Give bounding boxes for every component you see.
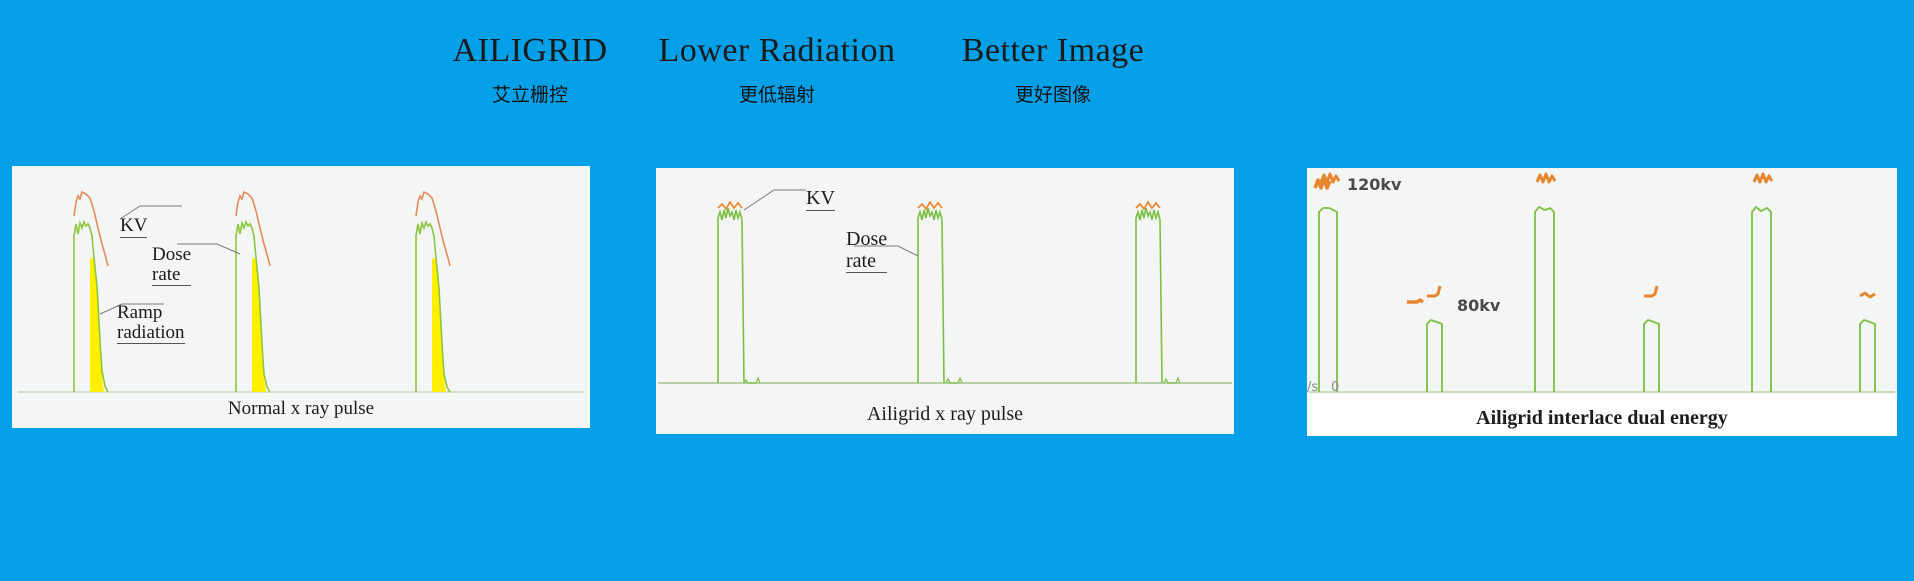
kv-annotation-text-2: KV [806, 187, 835, 211]
header-title-cn-0: 艾立栅控 [430, 80, 630, 110]
panel-ailigrid-interlace-dual-energy: 120kv 80kv /s 0 Ailigrid interlace dual … [1307, 168, 1897, 436]
header-title-en-2: Better Image [928, 30, 1178, 72]
low-energy-pulse-2 [1644, 320, 1659, 392]
legend-label-80kv: 80kv [1457, 296, 1500, 315]
header-group-ailigrid: AILIGRID 艾立栅控 [430, 30, 630, 110]
chart-ailigrid-x-ray-pulse [656, 168, 1234, 434]
kv-pulse-2-3 [1136, 202, 1160, 209]
high-energy-pulse-1 [1319, 208, 1337, 392]
legend-swatch-80kv [1407, 300, 1423, 302]
kv-mark-low-3 [1860, 293, 1875, 297]
kv-annotation-2: KV [806, 168, 835, 211]
dose-rate-pulse-2-3 [1136, 208, 1162, 383]
kv-annotation-text-1: KV [120, 215, 147, 238]
low-energy-pulse-3 [1860, 320, 1875, 392]
panel-caption-1: Normal x ray pulse [12, 398, 590, 420]
header-title-en-1: Lower Radiation [637, 30, 917, 72]
y-axis-zero-label: 0 [1331, 380, 1339, 395]
chart-svg-1 [12, 166, 590, 428]
ramp-radiation-annotation-text-1: Ramp radiation [117, 303, 185, 344]
dose-rate-annotation-1: Dose rate [152, 225, 191, 286]
dose-rate-annotation-text-2: Dose rate [846, 228, 887, 273]
header-title-cn-2: 更好图像 [928, 80, 1178, 110]
kv-mark-low-1 [1427, 286, 1440, 296]
kv-mark-high-2 [1537, 174, 1555, 182]
ramp-radiation-annotation-1: Ramp radiation [117, 283, 185, 344]
kv-pulse-2-2 [918, 202, 942, 209]
high-energy-pulse-2 [1535, 207, 1554, 392]
kv-mark-low-2 [1644, 286, 1657, 296]
header-title-cn-1: 更低辐射 [637, 80, 917, 110]
kv-mark-high-3 [1754, 174, 1772, 182]
kv-annotation-1: KV [120, 193, 147, 238]
dose-rate-annotation-text-1: Dose rate [152, 245, 191, 286]
kv-leader-line-2 [744, 190, 806, 210]
header-title-en-0: AILIGRID [430, 30, 630, 72]
y-axis-unit-label: /s [1307, 380, 1318, 395]
legend-label-120kv: 120kv [1347, 175, 1401, 194]
panel-normal-x-ray-pulse: KV Dose rate Ramp radiation Normal x ray… [12, 166, 590, 428]
panel-ailigrid-x-ray-pulse: KV Dose rate Ailigrid x ray pulse [656, 168, 1234, 434]
chart-svg-2 [656, 168, 1234, 434]
kv-pulse-2-1 [718, 202, 742, 209]
header-group-better-image: Better Image 更好图像 [928, 30, 1178, 110]
low-energy-pulse-1 [1427, 320, 1442, 392]
high-energy-pulse-3 [1752, 207, 1771, 392]
header-group-lower-radiation: Lower Radiation 更低辐射 [637, 30, 917, 110]
chart-normal-x-ray-pulse [12, 166, 590, 428]
panel-caption-2: Ailigrid x ray pulse [656, 403, 1234, 426]
slide-background: AILIGRID 艾立栅控 Lower Radiation 更低辐射 Bette… [0, 0, 1914, 581]
dose-rate-annotation-2: Dose rate [846, 206, 887, 273]
dose-rate-pulse-2-1 [718, 208, 744, 383]
panel-caption-3: Ailigrid interlace dual energy [1307, 407, 1897, 430]
header: AILIGRID 艾立栅控 Lower Radiation 更低辐射 Bette… [0, 22, 1914, 132]
dose-rate-pulse-2-2 [918, 208, 944, 383]
